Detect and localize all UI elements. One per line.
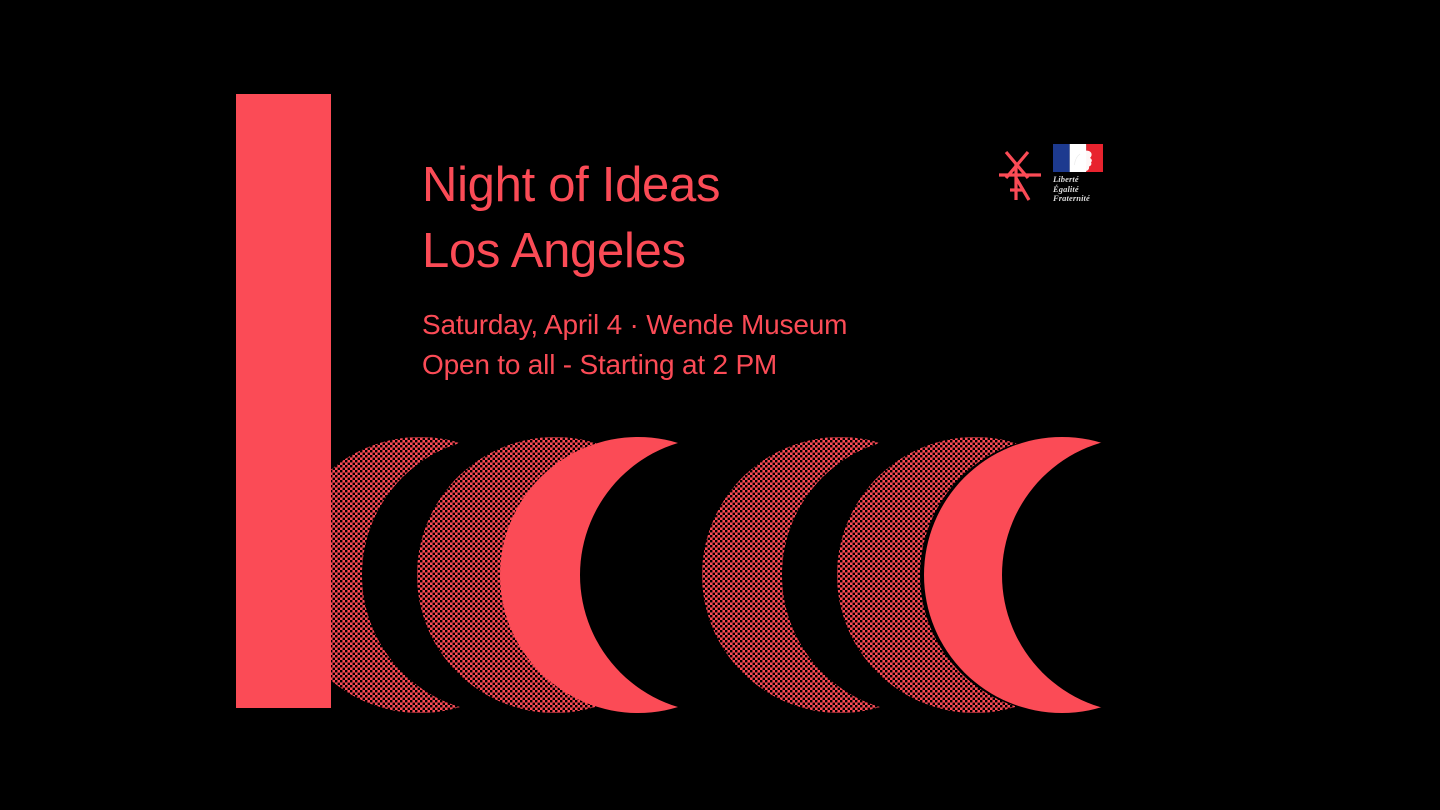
french-republic-mark: Liberté Égalité Fraternité xyxy=(1053,144,1107,204)
motto-line-fraternite: Fraternité xyxy=(1053,194,1107,204)
event-access-time: Open to all - Starting at 2 PM xyxy=(422,345,962,385)
page-title-line-2: Los Angeles xyxy=(422,218,962,284)
poster-canvas: Night of Ideas Los Angeles Saturday, Apr… xyxy=(0,0,1440,810)
institut-francais-monogram-icon xyxy=(995,144,1045,206)
vertical-red-bar xyxy=(236,94,331,708)
text-block: Night of Ideas Los Angeles Saturday, Apr… xyxy=(422,152,962,385)
logo-lockup: Liberté Égalité Fraternité xyxy=(995,144,1125,214)
french-tricolor-flag-icon xyxy=(1053,144,1103,172)
republic-motto: Liberté Égalité Fraternité xyxy=(1053,175,1107,204)
moon-6-solid-crescent xyxy=(0,0,1440,810)
page-title-line-1: Night of Ideas xyxy=(422,152,962,218)
event-date-venue: Saturday, April 4 · Wende Museum xyxy=(422,305,962,345)
moon-phase-sequence xyxy=(0,0,1440,810)
